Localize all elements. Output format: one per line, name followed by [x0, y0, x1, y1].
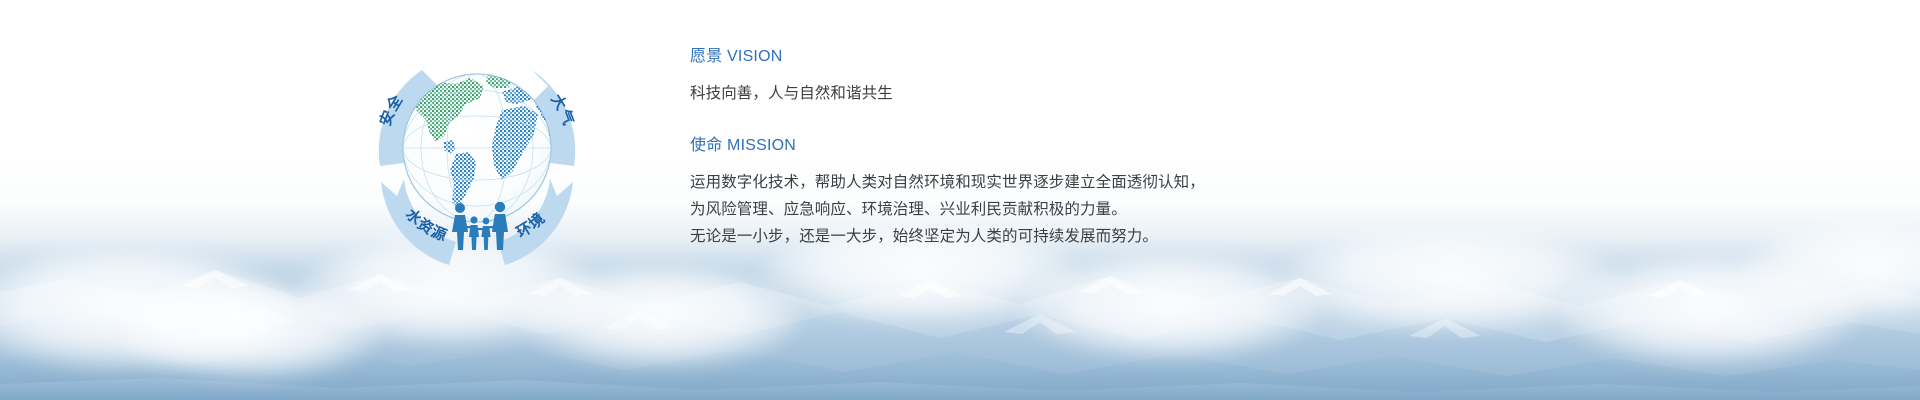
globe-sustainability-emblem: 安全 大气 水资源 环境	[352, 30, 602, 280]
vision-line-1: 科技向善，人与自然和谐共生	[690, 80, 1490, 107]
vision-block: 愿景 VISION 科技向善，人与自然和谐共生	[690, 44, 1490, 107]
vision-mission-banner: 安全 大气 水资源 环境 愿景 VISION 科技向善，人与自然和谐共生 使命 …	[0, 0, 1920, 400]
mission-line-3: 无论是一小步，还是一大步，始终坚定为人类的可持续发展而努力。	[690, 223, 1490, 250]
mission-block: 使命 MISSION 运用数字化技术，帮助人类对自然环境和现实世界逐步建立全面透…	[690, 133, 1490, 250]
mission-line-2: 为风险管理、应急响应、环境治理、兴业利民贡献积极的力量。	[690, 196, 1490, 223]
vision-mission-text-column: 愿景 VISION 科技向善，人与自然和谐共生 使命 MISSION 运用数字化…	[690, 44, 1490, 250]
mission-heading: 使命 MISSION	[690, 133, 1490, 159]
mission-line-1: 运用数字化技术，帮助人类对自然环境和现实世界逐步建立全面透彻认知，	[690, 169, 1490, 196]
vision-heading: 愿景 VISION	[690, 44, 1490, 70]
